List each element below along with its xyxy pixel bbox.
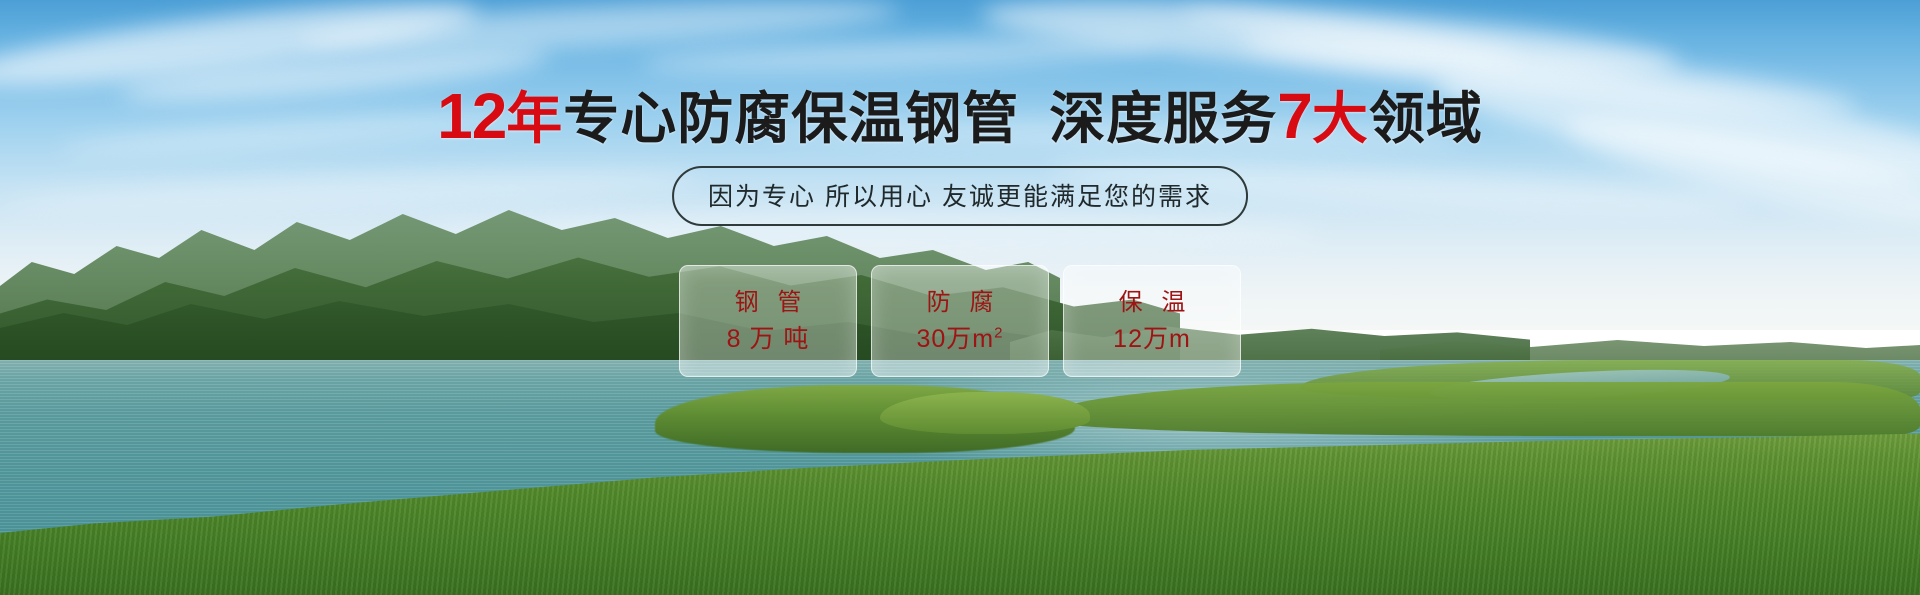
- page-title: 12年专心防腐保温钢管深度服务7大领域: [0, 84, 1920, 148]
- stat-value-text: 8 万 吨: [727, 325, 810, 353]
- banner-content: 12年专心防腐保温钢管深度服务7大领域 因为专心 所以用心 友诚更能满足您的需求…: [0, 0, 1920, 595]
- stat-value-text: 12万m: [1113, 325, 1191, 353]
- headline-fields-text: 领域: [1369, 87, 1483, 150]
- headline-years-unit: 年: [506, 87, 563, 150]
- stat-card-value: 8 万 吨: [727, 327, 810, 352]
- headline-fields-unit: 大: [1312, 87, 1369, 150]
- stat-value-superscript: 2: [994, 324, 1003, 341]
- headline-service-text: 深度服务: [1049, 87, 1277, 150]
- headline-years-number: 12: [437, 80, 506, 152]
- stat-card-group: 钢 管 8 万 吨 防 腐 30万m2 保 温 12万m: [679, 265, 1241, 377]
- stat-card-steel-pipe: 钢 管 8 万 吨: [679, 265, 857, 377]
- stat-value-text: 30万m: [917, 325, 995, 353]
- stat-card-label: 保 温: [1113, 291, 1192, 315]
- headline-main-text: 专心防腐保温钢管: [563, 87, 1019, 150]
- subtitle-badge: 因为专心 所以用心 友诚更能满足您的需求: [672, 166, 1248, 226]
- hero-banner: 12年专心防腐保温钢管深度服务7大领域 因为专心 所以用心 友诚更能满足您的需求…: [0, 0, 1920, 595]
- stat-card-value: 30万m2: [917, 327, 1004, 352]
- stat-card-label: 钢 管: [729, 291, 808, 315]
- stat-card-value: 12万m: [1113, 327, 1191, 352]
- headline-fields-number: 7: [1277, 80, 1312, 152]
- stat-card-insulation: 保 温 12万m: [1063, 265, 1241, 377]
- stat-card-anticorrosion: 防 腐 30万m2: [871, 265, 1049, 377]
- stat-card-label: 防 腐: [921, 291, 1000, 315]
